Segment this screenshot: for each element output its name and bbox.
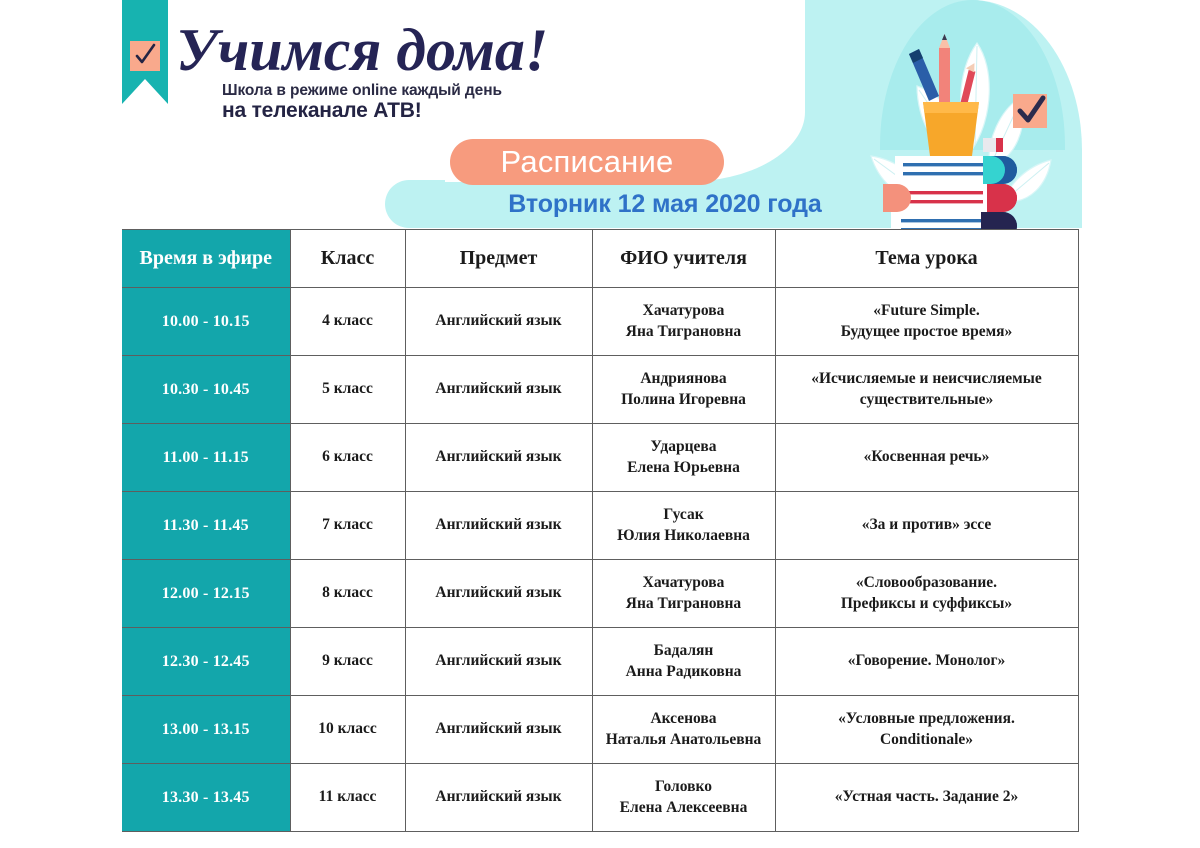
cell-subject-line-1: Английский язык [412, 719, 586, 739]
table-row: 13.30 - 13.4511 классАнглийский языкГоло… [122, 764, 1078, 832]
cell-teacher: АксеноваНаталья Анатольевна [592, 696, 775, 764]
cell-class: 11 класс [290, 764, 405, 832]
cell-teacher-line-1: Аксенова [599, 709, 769, 729]
cell-topic-line-2: Conditionale» [786, 730, 1068, 750]
cell-class: 7 класс [290, 492, 405, 560]
column-header-class: Класс [290, 230, 405, 288]
cell-time: 11.00 - 11.15 [122, 424, 290, 492]
cell-class-line-1: 9 класс [297, 651, 399, 671]
brand-tagline-line1: Школа в режиме online каждый день [222, 82, 502, 100]
cell-subject: Английский язык [405, 696, 592, 764]
cell-teacher-line-2: Яна Тиграновна [599, 594, 769, 614]
schedule-date: Вторник 12 мая 2020 года [385, 186, 945, 222]
cell-time-line-1: 12.30 - 12.45 [128, 651, 284, 672]
schedule-badge: Расписание [450, 139, 724, 185]
cell-class-line-1: 10 класс [297, 719, 399, 739]
cell-topic-line-1: «За и против» эссе [786, 515, 1068, 535]
cell-teacher-line-2: Елена Алексеевна [599, 798, 769, 818]
cell-class: 5 класс [290, 356, 405, 424]
cell-class: 8 класс [290, 560, 405, 628]
cell-class: 10 класс [290, 696, 405, 764]
cell-class-line-1: 5 класс [297, 379, 399, 399]
cell-teacher-line-1: Головко [599, 777, 769, 797]
cell-teacher-line-2: Полина Игоревна [599, 390, 769, 410]
poster-root: Учимся дома! Школа в режиме online кажды… [0, 0, 1200, 848]
cell-subject-line-1: Английский язык [412, 311, 586, 331]
table-row: 12.30 - 12.459 классАнглийский языкБадал… [122, 628, 1078, 696]
cell-topic-line-1: «Словообразование. [786, 573, 1068, 593]
cell-topic: «Говорение. Монолог» [775, 628, 1078, 696]
cell-class: 4 класс [290, 288, 405, 356]
cell-subject-line-1: Английский язык [412, 515, 586, 535]
cell-topic: «Условные предложения.Conditionale» [775, 696, 1078, 764]
cell-teacher-line-2: Анна Радиковна [599, 662, 769, 682]
cell-subject: Английский язык [405, 560, 592, 628]
cell-class-line-1: 11 класс [297, 787, 399, 807]
cell-topic-line-2: Префиксы и суффиксы» [786, 594, 1068, 614]
cell-time: 11.30 - 11.45 [122, 492, 290, 560]
cell-subject: Английский язык [405, 764, 592, 832]
column-header-topic: Тема урока [775, 230, 1078, 288]
table-row: 12.00 - 12.158 классАнглийский языкХачат… [122, 560, 1078, 628]
cell-topic-line-1: «Future Simple. [786, 301, 1068, 321]
cell-subject-line-1: Английский язык [412, 583, 586, 603]
cell-class: 9 класс [290, 628, 405, 696]
column-header-teacher: ФИО учителя [592, 230, 775, 288]
cell-topic: «Косвенная речь» [775, 424, 1078, 492]
cell-teacher: ХачатуроваЯна Тиграновна [592, 560, 775, 628]
cell-topic: «За и против» эссе [775, 492, 1078, 560]
table-row: 10.30 - 10.455 классАнглийский языкАндри… [122, 356, 1078, 424]
brand-wordmark-text: Учимся дома! [176, 17, 548, 83]
cell-teacher-line-2: Яна Тиграновна [599, 322, 769, 342]
brand-tagline-line2: на телеканале АТВ! [222, 99, 422, 123]
column-header-time: Время в эфире [122, 230, 290, 288]
cell-teacher-line-1: Гусак [599, 505, 769, 525]
cell-time-line-1: 12.00 - 12.15 [128, 583, 284, 604]
cell-teacher-line-2: Наталья Анатольевна [599, 730, 769, 750]
cell-teacher: УдарцеваЕлена Юрьевна [592, 424, 775, 492]
cell-topic-line-2: существительные» [786, 390, 1068, 410]
cell-time: 13.00 - 13.15 [122, 696, 290, 764]
cell-time: 12.30 - 12.45 [122, 628, 290, 696]
cell-class: 6 класс [290, 424, 405, 492]
cell-teacher-line-1: Хачатурова [599, 573, 769, 593]
cell-topic: «Словообразование.Префиксы и суффиксы» [775, 560, 1078, 628]
cell-topic-line-2: Будущее простое время» [786, 322, 1068, 342]
cell-topic-line-1: «Устная часть. Задание 2» [786, 787, 1068, 807]
cell-teacher-line-2: Елена Юрьевна [599, 458, 769, 478]
table-row: 10.00 - 10.154 классАнглийский языкХачат… [122, 288, 1078, 356]
cell-subject: Английский язык [405, 628, 592, 696]
cell-teacher-line-2: Юлия Николаевна [599, 526, 769, 546]
cell-teacher: БадалянАнна Радиковна [592, 628, 775, 696]
checkmark-icon [130, 41, 160, 71]
cell-class-line-1: 4 класс [297, 311, 399, 331]
cell-time-line-1: 13.30 - 13.45 [128, 787, 284, 808]
cell-topic-line-1: «Условные предложения. [786, 709, 1068, 729]
cell-time-line-1: 10.00 - 10.15 [128, 311, 284, 332]
cell-topic: «Future Simple.Будущее простое время» [775, 288, 1078, 356]
table-row: 13.00 - 13.1510 классАнглийский языкАксе… [122, 696, 1078, 764]
cell-teacher-line-1: Андриянова [599, 369, 769, 389]
table-row: 11.00 - 11.156 классАнглийский языкУдарц… [122, 424, 1078, 492]
cell-time: 12.00 - 12.15 [122, 560, 290, 628]
table-header-row: Время в эфире Класс Предмет ФИО учителя … [122, 230, 1078, 288]
schedule-table-body: 10.00 - 10.154 классАнглийский языкХачат… [122, 288, 1078, 832]
cell-class-line-1: 6 класс [297, 447, 399, 467]
cell-subject-line-1: Английский язык [412, 651, 586, 671]
cell-time-line-1: 11.30 - 11.45 [128, 515, 284, 536]
cell-class-line-1: 7 класс [297, 515, 399, 535]
cell-time: 10.30 - 10.45 [122, 356, 290, 424]
cell-teacher: АндрияноваПолина Игоревна [592, 356, 775, 424]
cell-subject: Английский язык [405, 492, 592, 560]
cell-subject-line-1: Английский язык [412, 787, 586, 807]
cell-class-line-1: 8 класс [297, 583, 399, 603]
cell-topic: «Устная часть. Задание 2» [775, 764, 1078, 832]
cell-teacher-line-1: Бадалян [599, 641, 769, 661]
schedule-table-wrapper: Время в эфире Класс Предмет ФИО учителя … [122, 229, 1078, 832]
cell-teacher-line-1: Хачатурова [599, 301, 769, 321]
cell-topic-line-1: «Говорение. Монолог» [786, 651, 1068, 671]
cell-teacher: ХачатуроваЯна Тиграновна [592, 288, 775, 356]
cell-teacher-line-1: Ударцева [599, 437, 769, 457]
cell-subject: Английский язык [405, 288, 592, 356]
column-header-subject: Предмет [405, 230, 592, 288]
cell-teacher: ГоловкоЕлена Алексеевна [592, 764, 775, 832]
cell-teacher: ГусакЮлия Николаевна [592, 492, 775, 560]
schedule-table: Время в эфире Класс Предмет ФИО учителя … [122, 229, 1079, 832]
cell-topic-line-1: «Косвенная речь» [786, 447, 1068, 467]
cell-time: 13.30 - 13.45 [122, 764, 290, 832]
cell-time-line-1: 11.00 - 11.15 [128, 447, 284, 468]
table-row: 11.30 - 11.457 классАнглийский языкГусак… [122, 492, 1078, 560]
cell-subject: Английский язык [405, 356, 592, 424]
cell-time-line-1: 10.30 - 10.45 [128, 379, 284, 400]
cell-time: 10.00 - 10.15 [122, 288, 290, 356]
cell-subject-line-1: Английский язык [412, 379, 586, 399]
brand-wordmark: Учимся дома! [176, 14, 556, 88]
cell-time-line-1: 13.00 - 13.15 [128, 719, 284, 740]
cell-subject: Английский язык [405, 424, 592, 492]
cell-topic: «Исчисляемые и неисчисляемыесуществитель… [775, 356, 1078, 424]
cell-subject-line-1: Английский язык [412, 447, 586, 467]
cell-topic-line-1: «Исчисляемые и неисчисляемые [786, 369, 1068, 389]
